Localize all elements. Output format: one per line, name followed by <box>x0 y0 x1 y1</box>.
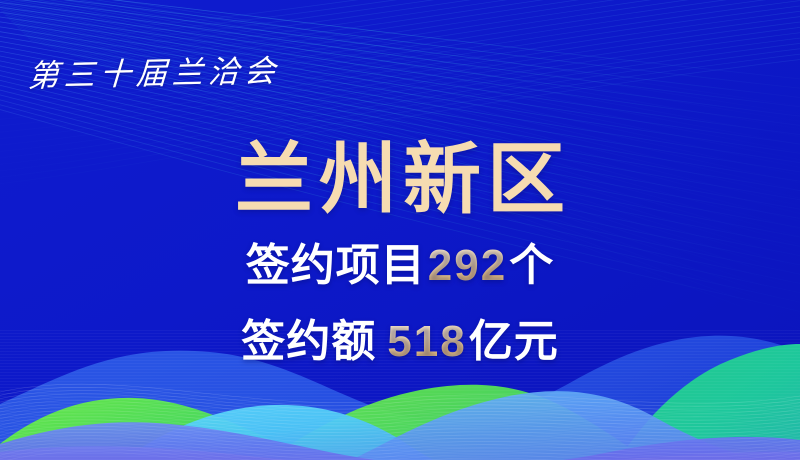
stat-prefix-projects: 签约项目 <box>246 241 426 290</box>
event-badge: 第三十届兰洽会 <box>27 55 281 91</box>
stat-line-projects: 签约项目292个 <box>0 240 800 292</box>
stat-line-amount: 签约额518亿元 <box>0 316 800 368</box>
promo-poster: 第三十届兰洽会 兰州新区 签约项目292个 签约额518亿元 <box>0 0 800 460</box>
stat-value-amount: 518 <box>385 317 468 366</box>
page-title: 兰州新区 <box>0 136 800 222</box>
headline-block: 兰州新区 签约项目292个 签约额518亿元 <box>0 136 800 368</box>
stat-suffix-projects: 个 <box>509 241 554 290</box>
stat-suffix-amount: 亿元 <box>469 317 559 366</box>
stat-prefix-amount: 签约额 <box>241 317 376 366</box>
stat-value-projects: 292 <box>426 241 509 290</box>
